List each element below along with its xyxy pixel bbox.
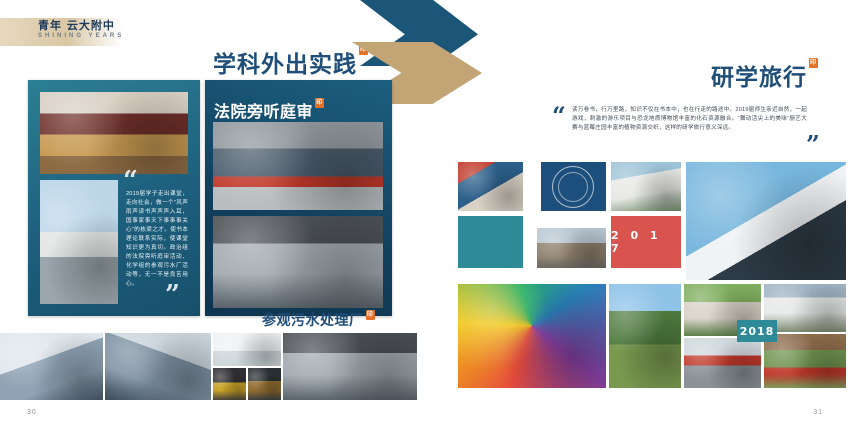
photo-court-audience bbox=[213, 216, 383, 308]
photo-court-steps-group bbox=[213, 122, 383, 210]
photo-crowd-gathering bbox=[458, 162, 523, 211]
logo-chinese-text: 青年 云大附中 bbox=[38, 19, 124, 32]
photo-lab-equipment-1 bbox=[213, 368, 246, 400]
quote-open-mark-right: “ bbox=[552, 104, 566, 128]
teal-color-block bbox=[458, 216, 523, 268]
page-number-right: 31 bbox=[813, 409, 823, 416]
year-2017-block: 2 0 1 7 bbox=[611, 216, 681, 268]
court-section-heading: 法院旁听庭审印 bbox=[214, 98, 324, 122]
quote-close-mark-right: ” bbox=[806, 133, 820, 157]
photo-lawn-activity bbox=[764, 334, 846, 388]
logo-english-text: SHINING YEARS bbox=[38, 33, 124, 39]
photo-plant-indoor-tour bbox=[283, 333, 417, 400]
photo-street-scene bbox=[537, 228, 606, 268]
left-quote-text: 2019届学子走出课堂，走向社会，做一个“风声雨声读书声声声入耳，国事家事天下事… bbox=[126, 190, 188, 289]
photo-court-entrance bbox=[40, 180, 118, 304]
plant-section-heading-text: 参观污水处理厂 bbox=[262, 313, 364, 329]
photo-students-market-street bbox=[105, 333, 211, 400]
school-crest-icon bbox=[552, 166, 594, 208]
photo-facility-plaque bbox=[213, 333, 281, 366]
brand-logo: 青年 云大附中 SHINING YEARS bbox=[38, 19, 124, 39]
quote-close-mark-left: ” bbox=[165, 282, 180, 308]
photo-field-tug-of-war bbox=[609, 284, 681, 388]
navy-color-block bbox=[541, 162, 606, 211]
magazine-spread: 青年 云大附中 SHINING YEARS 学科外出实践印 “ 2019届学子走… bbox=[0, 0, 850, 430]
bottom-photo-strip bbox=[0, 333, 417, 400]
photo-roller-coaster bbox=[686, 162, 846, 280]
plant-section-heading: 参观污水处理厂印 bbox=[262, 310, 375, 330]
photo-cooking-contest bbox=[684, 338, 761, 388]
year-2018-block: 2018 bbox=[737, 320, 777, 342]
page-title-left-text: 学科外出实践 bbox=[213, 52, 357, 78]
seal-stamp-icon: 印 bbox=[809, 58, 818, 68]
page-number-left: 30 bbox=[27, 409, 37, 416]
seal-stamp-icon: 印 bbox=[315, 98, 324, 108]
court-section-heading-text: 法院旁听庭审 bbox=[214, 102, 313, 121]
seal-stamp-icon: 印 bbox=[366, 310, 375, 320]
photo-girls-smiling bbox=[611, 162, 681, 211]
photo-students-outside-bus bbox=[0, 333, 103, 400]
photo-court-group bbox=[40, 92, 188, 174]
right-quote-text: 读万卷书，行万里路，知识不仅在书本中，也在行走的路途中。2019届师生亲近自然，… bbox=[572, 106, 807, 133]
photo-lab-equipment-2 bbox=[248, 368, 281, 400]
photo-swing-carousel bbox=[458, 284, 606, 388]
page-title-right: 研学旅行印 bbox=[711, 58, 818, 92]
page-title-left: 学科外出实践印 bbox=[213, 45, 368, 79]
page-title-right-text: 研学旅行 bbox=[711, 65, 807, 91]
